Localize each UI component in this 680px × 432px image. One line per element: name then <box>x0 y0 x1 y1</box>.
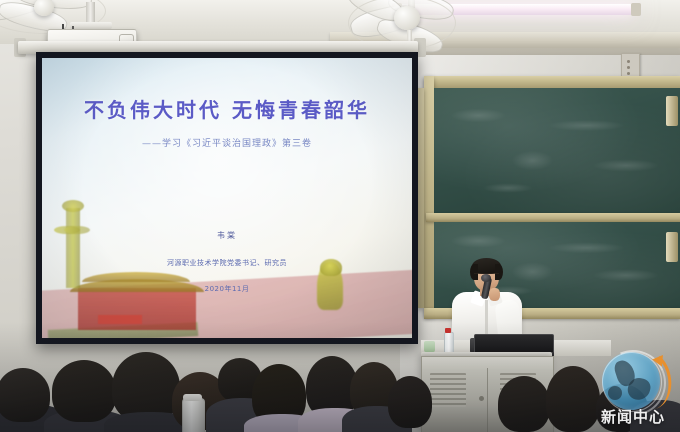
console-lock-icon[interactable] <box>479 396 484 401</box>
console-vent-left <box>430 373 466 407</box>
water-bottle-cap <box>445 328 451 333</box>
chalkboard-upper <box>434 88 680 213</box>
audience-member <box>388 376 432 428</box>
chalkboard-slider-track-top[interactable] <box>666 96 678 126</box>
audience-member <box>498 376 550 432</box>
watermark-label: 新闻中心 <box>594 406 672 427</box>
audience-member <box>0 368 50 422</box>
chalkboard-frame-left <box>424 76 434 316</box>
screen-vignette <box>42 58 412 338</box>
watermark: 新闻中心 <box>594 352 672 426</box>
cup[interactable] <box>424 341 435 352</box>
projector-mount <box>86 2 95 24</box>
chalkboard-frame-edge <box>417 88 424 308</box>
microphone-head-icon <box>481 274 491 282</box>
audience-member <box>546 366 600 432</box>
chalkboard-slider-track-bottom[interactable] <box>666 232 678 262</box>
projection-screen[interactable]: 不负伟大时代 无悔青春韶华 ——学习《习近平谈治国理政》第三卷 韦棠 河源职业技… <box>42 58 412 338</box>
chalkboard-middle-rail <box>426 213 680 222</box>
thermos-bottle[interactable] <box>182 398 205 432</box>
speaker-hand <box>489 288 500 301</box>
lecture-hall-photo: 不负伟大时代 无悔青春韶华 ——学习《习近平谈治国理政》第三卷 韦棠 河源职业技… <box>0 0 680 432</box>
tube-light-end-right <box>631 3 641 16</box>
chalkboard-frame-top <box>424 76 680 88</box>
thermos-bottle-cap <box>183 394 202 401</box>
console-door-seam <box>487 368 488 432</box>
audience-member <box>52 360 116 422</box>
